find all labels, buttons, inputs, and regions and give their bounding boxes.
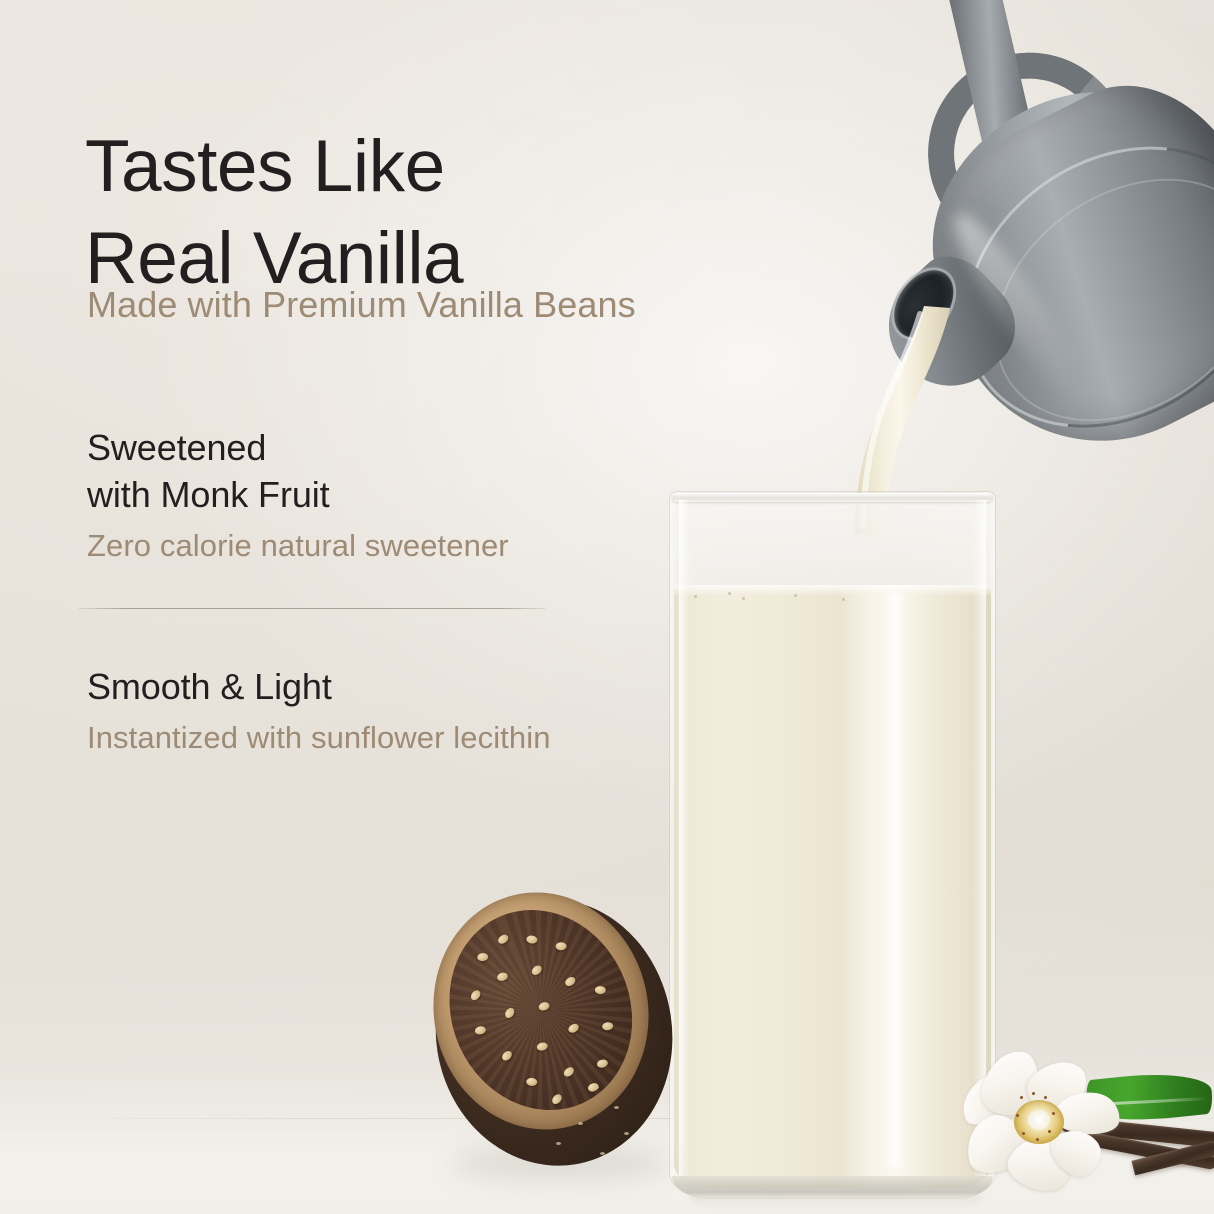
- feature-subtitle: Instantized with sunflower lecithin: [87, 718, 747, 758]
- glass-highlight-center: [882, 592, 908, 1168]
- flower-core: [1028, 1110, 1050, 1130]
- monk-fruit-icon: [428, 890, 678, 1172]
- feature-subtitle: Zero calorie natural sweetener: [87, 526, 747, 566]
- feature-block: Smooth & Light Instantized with sunflowe…: [87, 663, 747, 758]
- page-title: Tastes Like Real Vanilla: [85, 121, 825, 305]
- glass-highlight-left: [679, 500, 689, 1176]
- page-subtitle: Made with Premium Vanilla Beans: [87, 283, 636, 327]
- product-feature-banner: Tastes Like Real Vanilla Made with Premi…: [0, 0, 1214, 1214]
- vanilla-flower-icon: [936, 1044, 1214, 1214]
- milk-bubbles: [690, 591, 880, 605]
- feature-block: Sweetened with Monk Fruit Zero calorie n…: [87, 424, 747, 566]
- feature-title: Sweetened with Monk Fruit: [87, 424, 747, 518]
- feature-title: Smooth & Light: [87, 663, 747, 710]
- feature-divider: [78, 608, 546, 609]
